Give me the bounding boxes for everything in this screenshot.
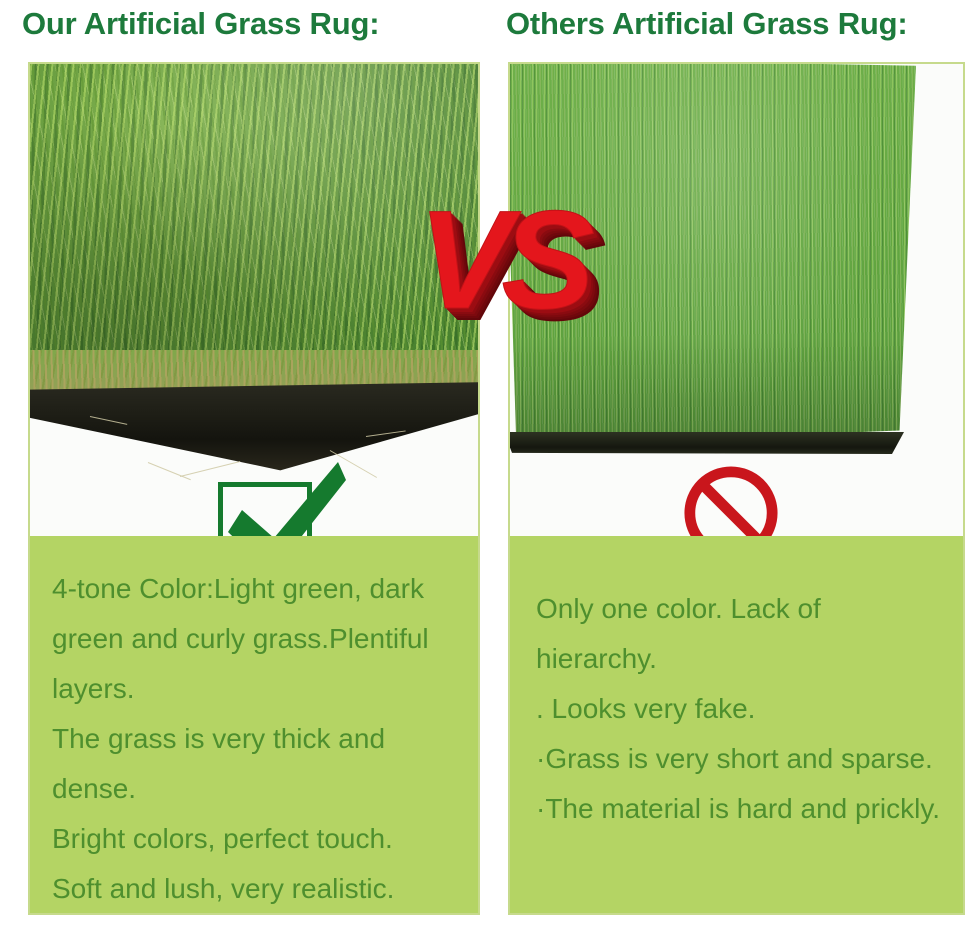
rug-backing-edge bbox=[510, 432, 904, 454]
caption-line: Bright colors, perfect touch. bbox=[52, 814, 462, 864]
versus-badge: VS bbox=[418, 190, 585, 330]
check-mark-icon bbox=[228, 458, 346, 536]
product-photo-ours bbox=[30, 64, 478, 536]
page-title-others: Others Artificial Grass Rug: bbox=[486, 0, 972, 42]
caption-others: Only one color. Lack of hierarchy. . Loo… bbox=[510, 536, 963, 913]
stray-fibre bbox=[148, 462, 191, 480]
lush-grass-texture bbox=[30, 64, 478, 398]
caption-line: The grass is very thick and bbox=[52, 714, 462, 764]
caption-line: layers. bbox=[52, 664, 462, 714]
verdict-icon-others bbox=[682, 464, 786, 536]
caption-ours: 4-tone Color:Light green, dark green and… bbox=[30, 536, 478, 913]
verdict-icon-ours bbox=[218, 458, 358, 536]
caption-line: 4-tone Color:Light green, dark bbox=[52, 564, 462, 614]
comparison-panels: 4-tone Color:Light green, dark green and… bbox=[0, 62, 972, 934]
caption-line: ·Grass is very short and sparse. bbox=[536, 734, 947, 784]
caption-line: Only one color. Lack of bbox=[536, 584, 947, 634]
headings-row: Our Artificial Grass Rug: Others Artific… bbox=[0, 0, 972, 62]
caption-line: dense. bbox=[52, 764, 462, 814]
panel-ours: 4-tone Color:Light green, dark green and… bbox=[28, 62, 480, 915]
caption-line: ·The material is hard and prickly. bbox=[536, 784, 947, 834]
caption-line: Soft and lush, very realistic. bbox=[52, 864, 462, 914]
page-title-ours: Our Artificial Grass Rug: bbox=[0, 0, 486, 42]
caption-line: hierarchy. bbox=[536, 634, 947, 684]
prohibition-icon bbox=[682, 464, 780, 536]
caption-line: . Looks very fake. bbox=[536, 684, 947, 734]
caption-line: green and curly grass.Plentiful bbox=[52, 614, 462, 664]
